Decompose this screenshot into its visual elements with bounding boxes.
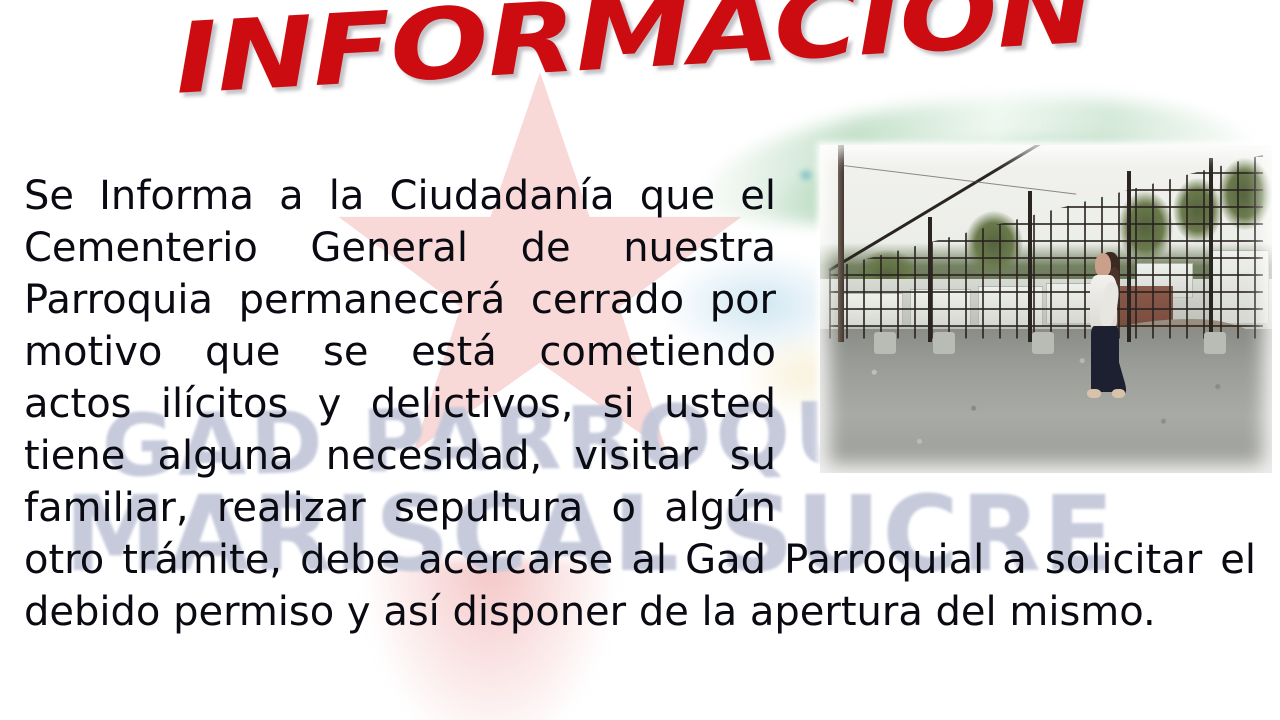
announcement-body: Se Informa a la Ciudadanía que el Cement… — [24, 170, 1256, 638]
photo-text-wrap-spacer — [798, 170, 1256, 480]
page-title: INFORMACIÓN — [172, 0, 1095, 109]
title-area: INFORMACIÓN — [0, 8, 1280, 128]
information-poster: GAD PARROQUIAL MARISCAL SUCRE INFORMACIÓ… — [0, 0, 1280, 720]
